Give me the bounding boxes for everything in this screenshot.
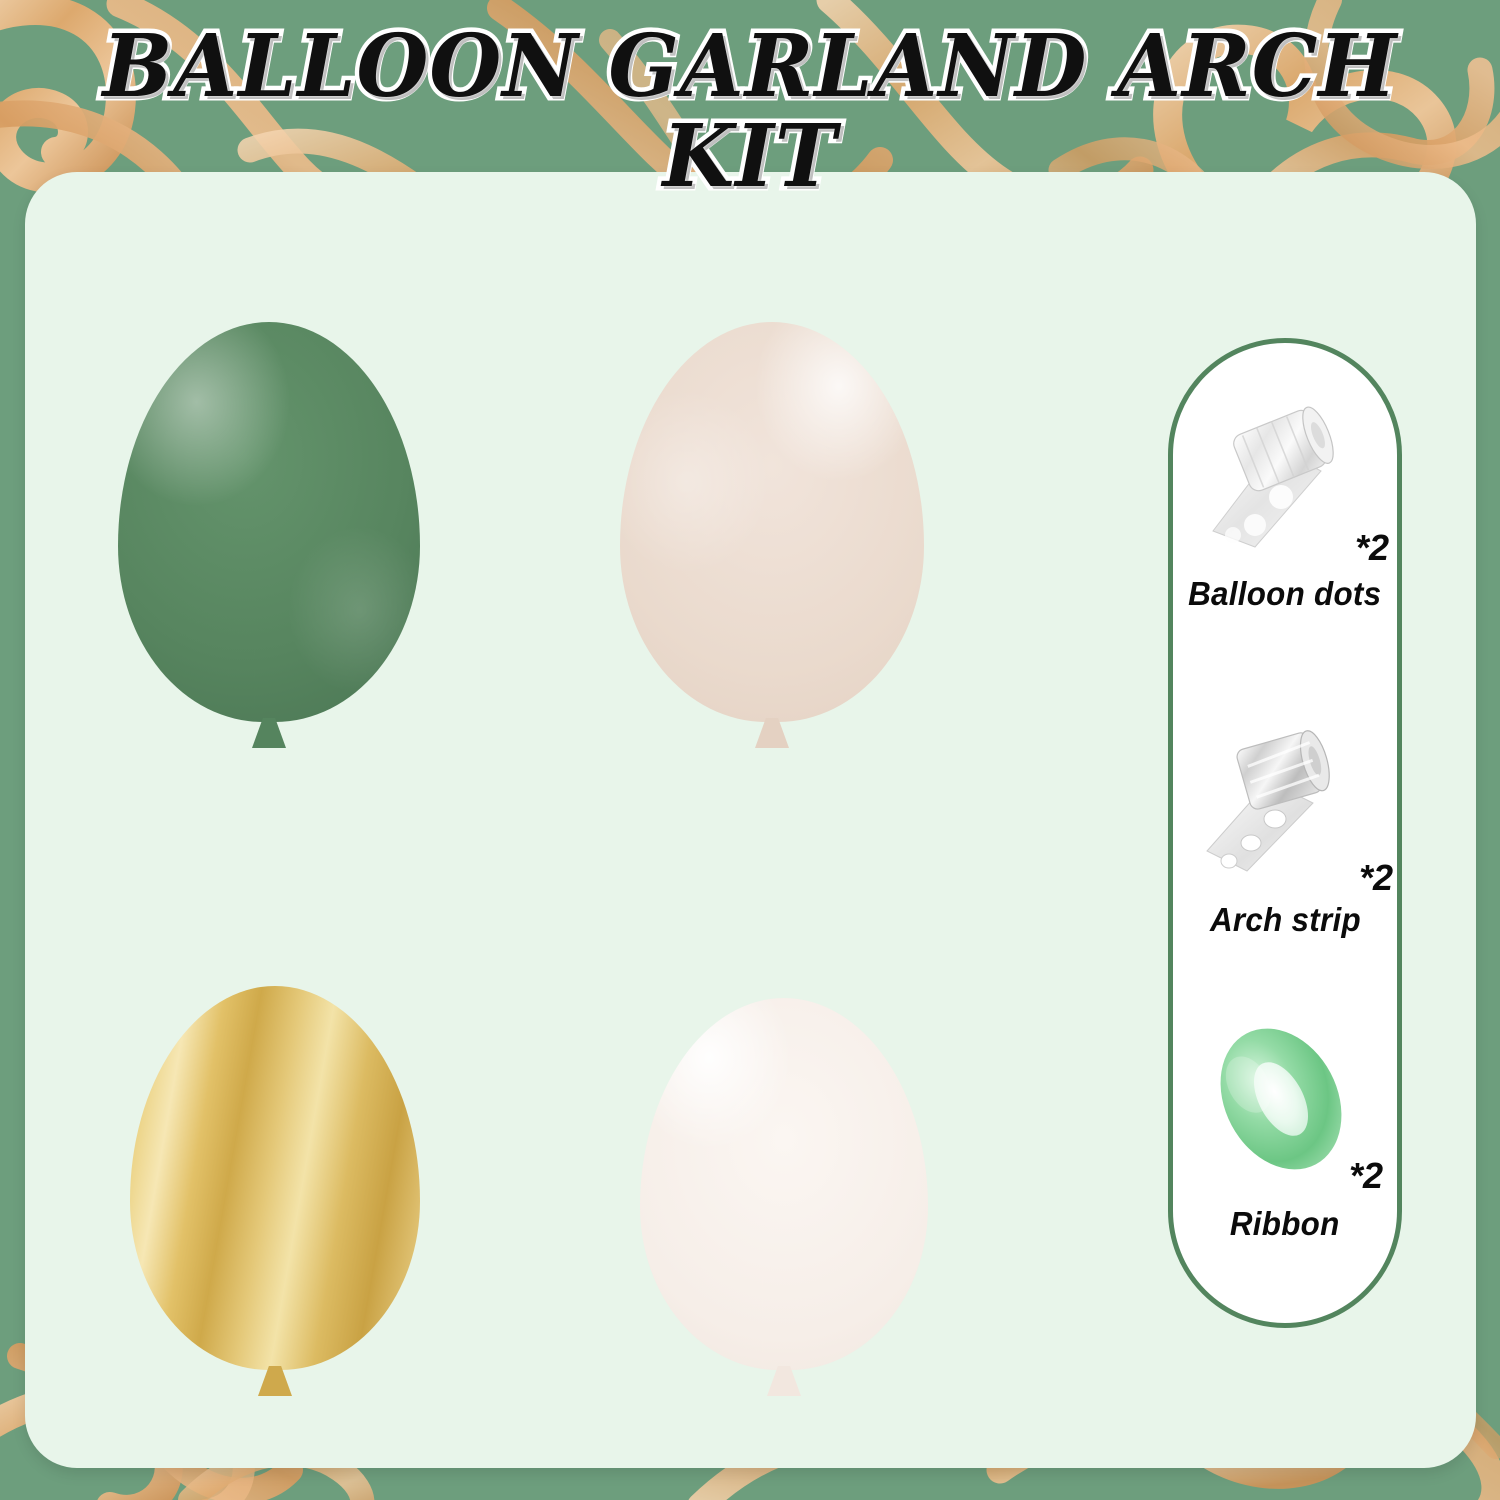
metal-gold-balloon (130, 986, 420, 1370)
accessory-arch-strip: *2 Arch strip (1173, 711, 1397, 939)
accessories-panel: *2 Balloon dots (1168, 338, 1402, 1328)
page-title: BALLOON GARLAND ARCH KIT (0, 22, 1500, 203)
accessory-label: Ribbon (1230, 1205, 1340, 1243)
accessory-label: Balloon dots (1188, 575, 1381, 613)
white-balloon (640, 998, 928, 1370)
accessory-quantity: *2 (1349, 1155, 1383, 1197)
ribbon-spool-icon: *2 (1173, 1015, 1397, 1205)
arch-strip-roll-icon: *2 (1173, 711, 1397, 901)
product-infographic: BALLOON GARLAND ARCH KIT SAGE GREEN 18in… (0, 0, 1500, 1500)
balloon-body (118, 322, 420, 722)
page-title-text: BALLOON GARLAND ARCH KIT (30, 22, 1470, 203)
accessory-balloon-dots: *2 Balloon dots (1173, 385, 1397, 613)
balloon-body (130, 986, 420, 1370)
accessory-quantity: *2 (1355, 527, 1389, 569)
sand-white-balloon (620, 322, 924, 722)
accessory-ribbon: *2 Ribbon (1173, 1015, 1397, 1243)
balloon-body (640, 998, 928, 1370)
sage-green-balloon (118, 322, 420, 722)
accessory-quantity: *2 (1359, 857, 1393, 899)
balloon-dots-tape-roll-icon: *2 (1173, 385, 1397, 575)
accessory-label: Arch strip (1210, 901, 1361, 939)
balloon-body (620, 322, 924, 722)
